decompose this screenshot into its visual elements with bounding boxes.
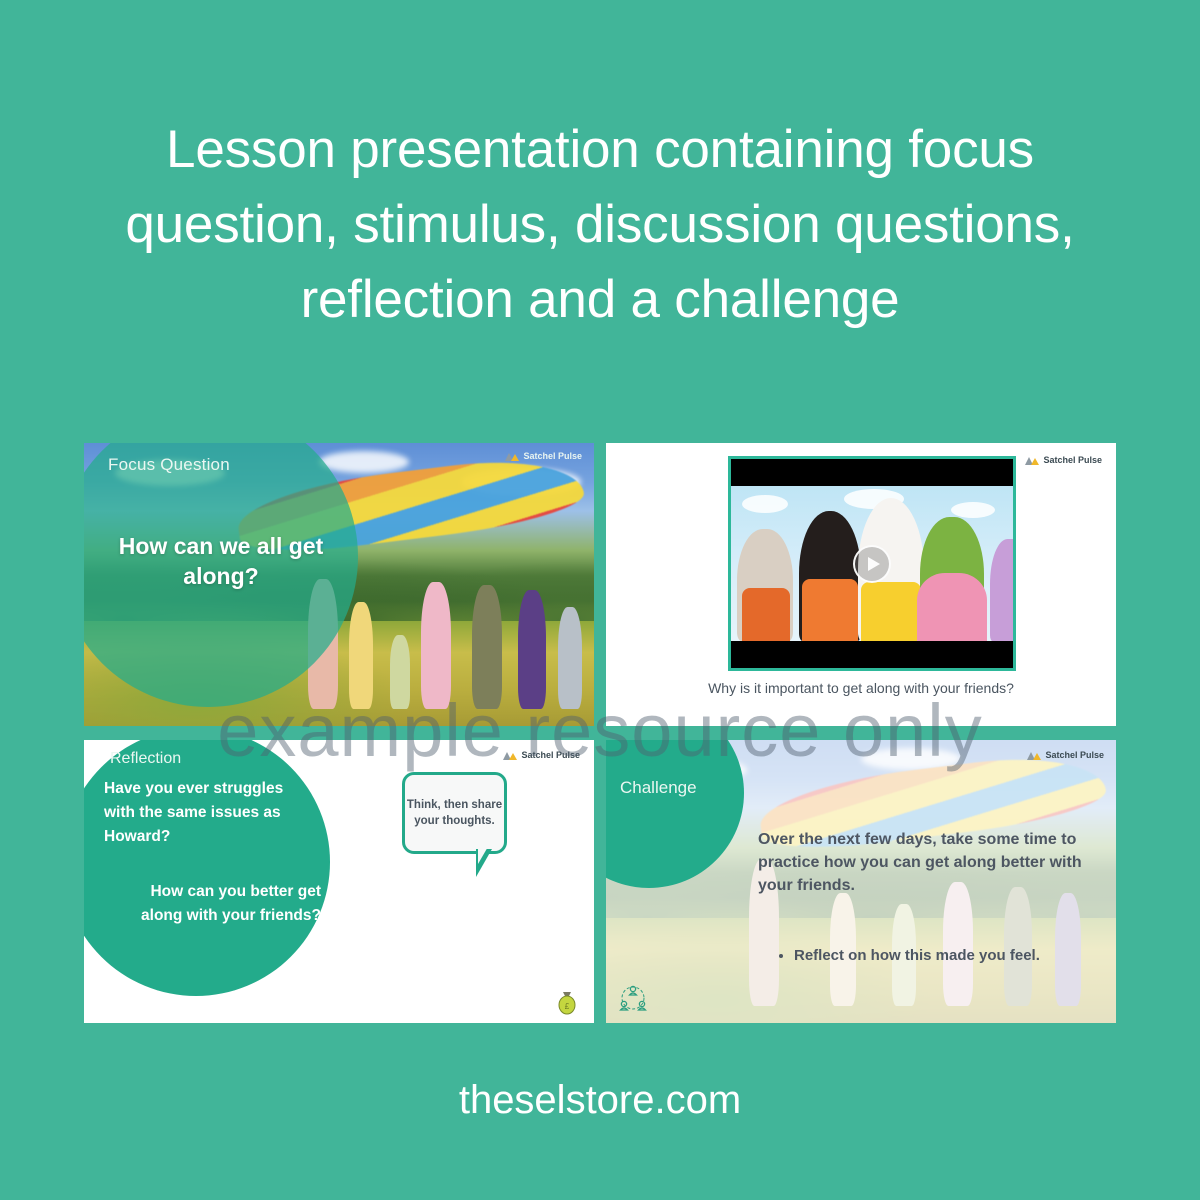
brand-name: Satchel Pulse: [521, 750, 580, 760]
footer-url: theselstore.com: [0, 1078, 1200, 1123]
group-collaboration-icon: [618, 983, 648, 1013]
brand-name: Satchel Pulse: [1045, 750, 1104, 760]
challenge-bullet-list: Reflect on how this made you feel.: [778, 945, 1104, 966]
speech-bubble-tail: [476, 849, 492, 877]
slide-reflection[interactable]: Reflection Have you ever struggles with …: [84, 740, 594, 1023]
slide-eyebrow-challenge: Challenge: [620, 778, 697, 798]
focus-question-text: How can we all get along?: [106, 531, 336, 591]
slide-challenge[interactable]: Challenge Over the next few days, take s…: [606, 740, 1116, 1023]
speech-bubble: Think, then share your thoughts.: [402, 772, 507, 854]
brand-name: Satchel Pulse: [1043, 455, 1102, 465]
reflection-question-one: Have you ever struggles with the same is…: [104, 777, 304, 849]
svg-text:£: £: [565, 1002, 570, 1011]
stimulus-caption: Why is it important to get along with yo…: [666, 679, 1056, 698]
play-button-icon[interactable]: [853, 545, 891, 583]
satchel-pulse-logo: Satchel Pulse: [1027, 750, 1104, 760]
mountain-logo-icon: [505, 451, 519, 461]
satchel-pulse-logo: Satchel Pulse: [505, 451, 582, 461]
slide-focus-question[interactable]: Focus Question How can we all get along?…: [84, 443, 594, 726]
speech-bubble-text: Think, then share your thoughts.: [405, 797, 504, 829]
mountain-logo-icon: [503, 750, 517, 760]
list-item: Reflect on how this made you feel.: [794, 945, 1104, 966]
brand-name: Satchel Pulse: [523, 451, 582, 461]
slide-eyebrow-reflection: Reflection: [110, 750, 181, 768]
satchel-pulse-logo: Satchel Pulse: [503, 750, 580, 760]
video-player[interactable]: [728, 456, 1016, 671]
money-bag-icon: £: [556, 989, 578, 1015]
satchel-pulse-logo: Satchel Pulse: [1025, 455, 1102, 465]
mountain-logo-icon: [1027, 750, 1041, 760]
page-title: Lesson presentation containing focus que…: [60, 112, 1140, 337]
background-character: [990, 539, 1013, 641]
slide-thumbnail-grid: Focus Question How can we all get along?…: [84, 443, 1116, 1023]
slide-stimulus-video[interactable]: Satchel Pulse: [606, 443, 1116, 726]
slide-eyebrow-focus-question: Focus Question: [108, 455, 230, 475]
challenge-body-text: Over the next few days, take some time t…: [758, 828, 1104, 897]
mountain-logo-icon: [1025, 455, 1039, 465]
reflection-question-two: How can you better get along with your f…: [116, 880, 321, 928]
